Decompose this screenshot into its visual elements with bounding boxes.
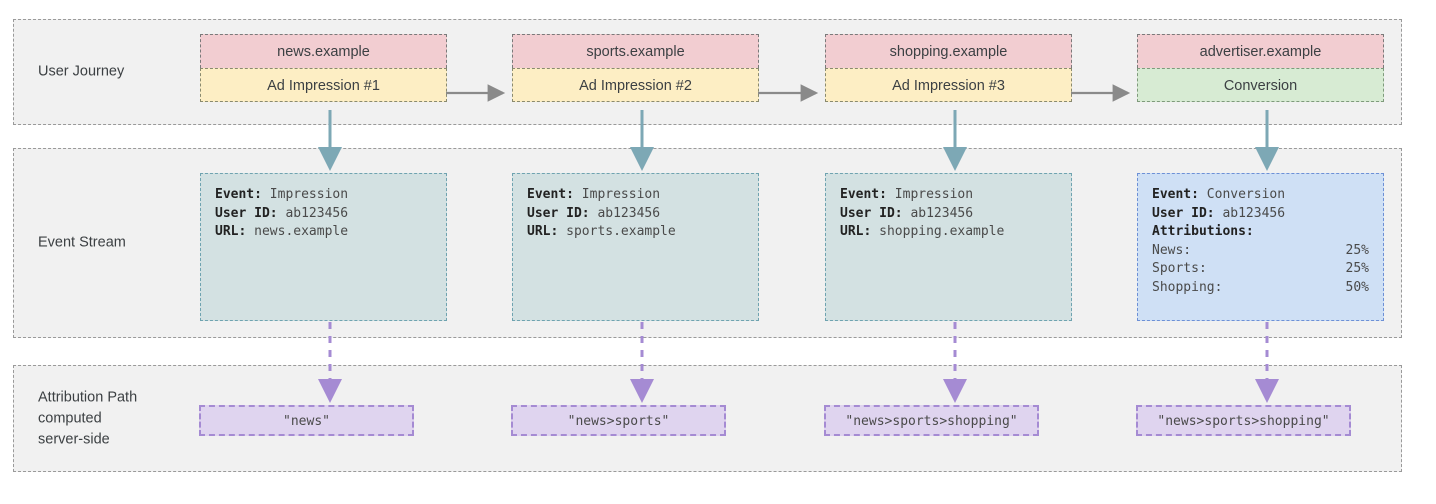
- event-line: User ID: ab123456: [1152, 205, 1369, 224]
- user-journey-row: User Journey news.example Ad Impression …: [13, 19, 1402, 125]
- journey-card-3[interactable]: shopping.example Ad Impression #3: [825, 34, 1072, 102]
- event-line: Event: Impression: [527, 186, 744, 205]
- event-line-value: Impression: [582, 187, 660, 202]
- event-stream-row: Event Stream Event: Impression User ID: …: [13, 148, 1402, 338]
- event-line-key: Event:: [215, 187, 262, 202]
- attribution-path-card-2[interactable]: "news>sports": [511, 405, 726, 436]
- journey-site-1: news.example: [200, 34, 447, 68]
- event-line: Event: Impression: [215, 186, 432, 205]
- event-line: Event: Impression: [840, 186, 1057, 205]
- attribution-path-card-3[interactable]: "news>sports>shopping": [824, 405, 1039, 436]
- event-line-value: Conversion: [1207, 187, 1285, 202]
- event-line-value: sports.example: [566, 224, 676, 239]
- event-stream-row-label: Event Stream: [38, 233, 126, 254]
- user-journey-row-label: User Journey: [38, 62, 124, 83]
- event-card-4[interactable]: Event: Conversion User ID: ab123456 Attr…: [1137, 173, 1384, 321]
- journey-action-3: Ad Impression #3: [825, 68, 1072, 102]
- journey-card-4[interactable]: advertiser.example Conversion: [1137, 34, 1384, 102]
- event-line-value: news.example: [254, 224, 348, 239]
- journey-action-4: Conversion: [1137, 68, 1384, 102]
- event-line-value: shopping.example: [879, 224, 1004, 239]
- event-line-key: Event:: [527, 187, 574, 202]
- event-line: Attributions:: [1152, 223, 1369, 242]
- event-line: URL: shopping.example: [840, 223, 1057, 242]
- event-line-value: Impression: [895, 187, 973, 202]
- journey-site-3: shopping.example: [825, 34, 1072, 68]
- event-line-value: ab123456: [1222, 206, 1285, 221]
- event-card-3[interactable]: Event: Impression User ID: ab123456 URL:…: [825, 173, 1072, 321]
- event-line-value: ab123456: [910, 206, 973, 221]
- event-line-key: User ID:: [1152, 206, 1215, 221]
- journey-card-2[interactable]: sports.example Ad Impression #2: [512, 34, 759, 102]
- event-card-2[interactable]: Event: Impression User ID: ab123456 URL:…: [512, 173, 759, 321]
- attribution-path-card-4[interactable]: "news>sports>shopping": [1136, 405, 1351, 436]
- event-line-key: URL:: [527, 224, 558, 239]
- journey-site-2: sports.example: [512, 34, 759, 68]
- event-line: Event: Conversion: [1152, 186, 1369, 205]
- event-line: URL: sports.example: [527, 223, 744, 242]
- attribution-flow-diagram: User Journey news.example Ad Impression …: [0, 0, 1436, 504]
- event-card-1[interactable]: Event: Impression User ID: ab123456 URL:…: [200, 173, 447, 321]
- event-line-key: User ID:: [527, 206, 590, 221]
- event-line: User ID: ab123456: [215, 205, 432, 224]
- event-line-value: ab123456: [285, 206, 348, 221]
- event-line-key: URL:: [840, 224, 871, 239]
- attribution-share-row: Sports:25%: [1152, 260, 1369, 279]
- attribution-path-card-1[interactable]: "news": [199, 405, 414, 436]
- event-line: User ID: ab123456: [840, 205, 1057, 224]
- event-line-key: Event:: [840, 187, 887, 202]
- event-line-key: Event:: [1152, 187, 1199, 202]
- attribution-share-value: 50%: [1346, 279, 1369, 298]
- journey-card-1[interactable]: news.example Ad Impression #1: [200, 34, 447, 102]
- event-line-key: User ID:: [215, 206, 278, 221]
- attribution-share-name: Shopping:: [1152, 279, 1222, 298]
- attribution-share-row: News:25%: [1152, 242, 1369, 261]
- attribution-share-name: News:: [1152, 242, 1191, 261]
- attribution-share-value: 25%: [1346, 260, 1369, 279]
- event-line-value: ab123456: [597, 206, 660, 221]
- event-line: URL: news.example: [215, 223, 432, 242]
- attribution-share-value: 25%: [1346, 242, 1369, 261]
- event-line: User ID: ab123456: [527, 205, 744, 224]
- event-line-key: Attributions:: [1152, 224, 1254, 239]
- event-line-key: User ID:: [840, 206, 903, 221]
- event-line-key: URL:: [215, 224, 246, 239]
- attribution-share-name: Sports:: [1152, 260, 1207, 279]
- event-line-value: Impression: [270, 187, 348, 202]
- journey-site-4: advertiser.example: [1137, 34, 1384, 68]
- attribution-path-row: Attribution Path computed server-side "n…: [13, 365, 1402, 472]
- journey-action-1: Ad Impression #1: [200, 68, 447, 102]
- attribution-share-row: Shopping:50%: [1152, 279, 1369, 298]
- journey-action-2: Ad Impression #2: [512, 68, 759, 102]
- attribution-path-row-label: Attribution Path computed server-side: [38, 387, 137, 450]
